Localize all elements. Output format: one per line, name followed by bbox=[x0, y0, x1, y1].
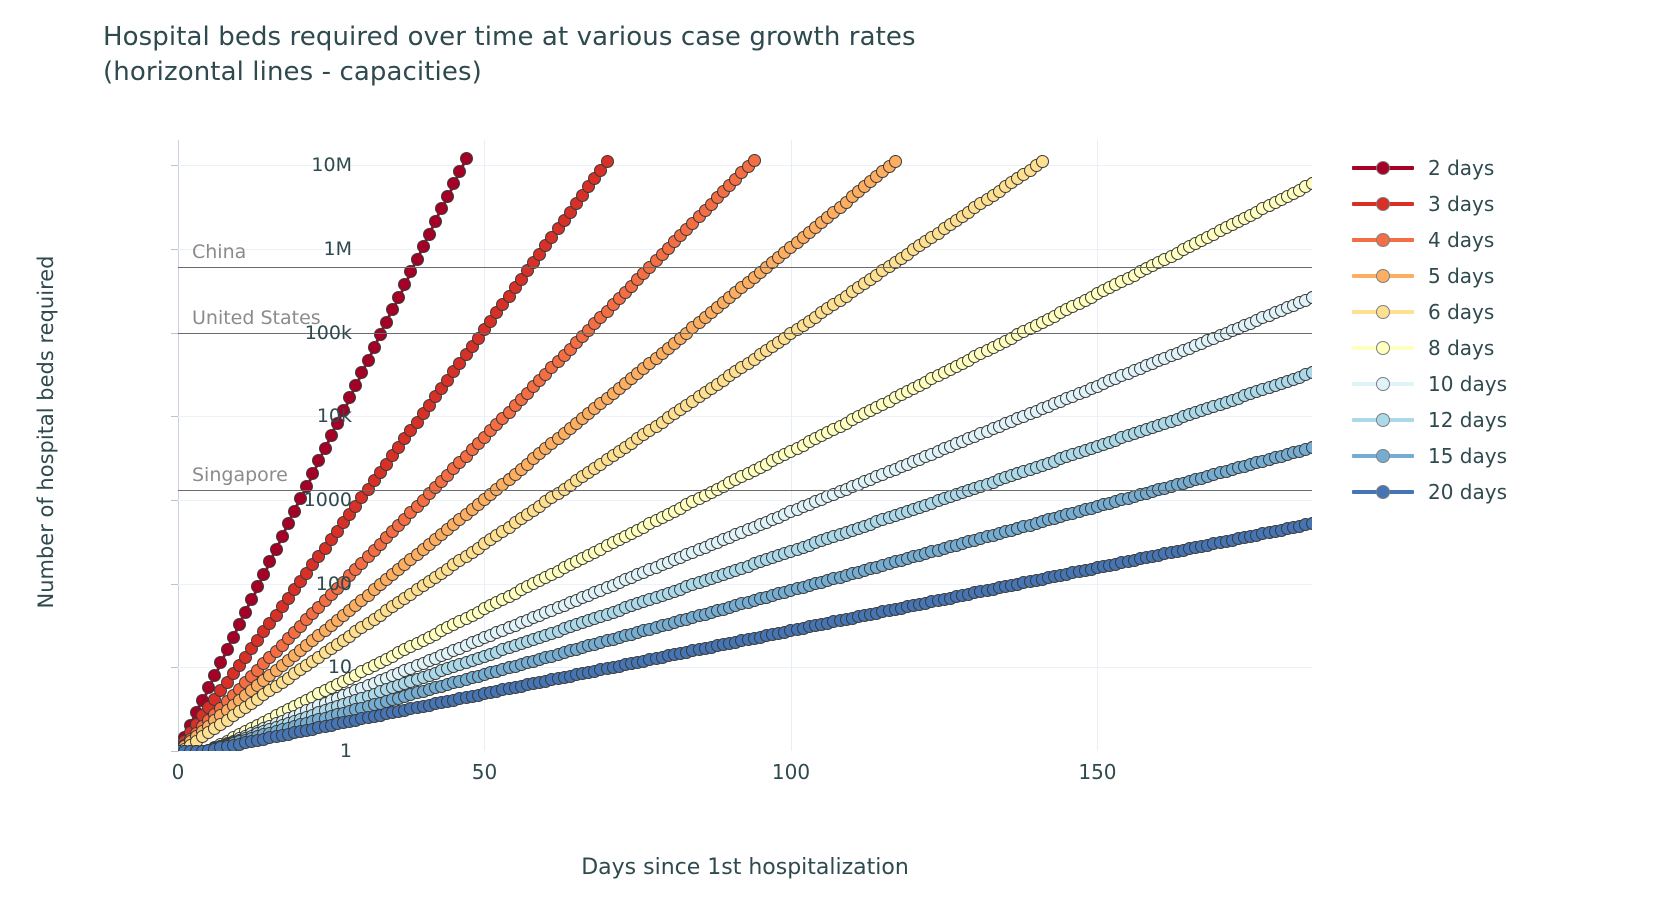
y-axis-tick-label: 1 bbox=[340, 740, 352, 762]
y-axis-tick-mark bbox=[171, 667, 178, 668]
legend: 2 days3 days4 days5 days6 days8 days10 d… bbox=[1352, 150, 1652, 510]
legend-marker-icon bbox=[1376, 161, 1390, 175]
legend-swatch-icon bbox=[1352, 373, 1414, 395]
legend-item-4-days[interactable]: 4 days bbox=[1352, 222, 1652, 258]
y-axis-tick-label: 10M bbox=[311, 154, 352, 176]
legend-item-12-days[interactable]: 12 days bbox=[1352, 402, 1652, 438]
legend-marker-icon bbox=[1376, 197, 1390, 211]
legend-swatch-icon bbox=[1352, 481, 1414, 503]
capacity-label-singapore: Singapore bbox=[192, 464, 288, 486]
x-axis-tick-label: 100 bbox=[772, 760, 810, 784]
legend-marker-icon bbox=[1376, 377, 1390, 391]
legend-marker-icon bbox=[1376, 485, 1390, 499]
y-axis-tick-mark bbox=[171, 165, 178, 166]
legend-item-8-days[interactable]: 8 days bbox=[1352, 330, 1652, 366]
legend-marker-icon bbox=[1376, 269, 1390, 283]
legend-swatch-icon bbox=[1352, 193, 1414, 215]
legend-marker-icon bbox=[1376, 413, 1390, 427]
legend-item-label: 3 days bbox=[1428, 192, 1494, 216]
y-axis-tick-mark bbox=[171, 751, 178, 752]
legend-swatch-icon bbox=[1352, 337, 1414, 359]
legend-swatch-icon bbox=[1352, 229, 1414, 251]
legend-item-6-days[interactable]: 6 days bbox=[1352, 294, 1652, 330]
legend-marker-icon bbox=[1376, 305, 1390, 319]
legend-swatch-icon bbox=[1352, 409, 1414, 431]
y-axis-tick-label: 1M bbox=[324, 238, 352, 260]
y-axis-tick-label: 10 bbox=[328, 656, 352, 678]
y-axis-tick-mark bbox=[171, 500, 178, 501]
chart-title-line-2: (horizontal lines - capacities) bbox=[103, 55, 1203, 90]
legend-item-5-days[interactable]: 5 days bbox=[1352, 258, 1652, 294]
legend-marker-icon bbox=[1376, 233, 1390, 247]
legend-item-label: 12 days bbox=[1428, 408, 1507, 432]
legend-marker-icon bbox=[1376, 341, 1390, 355]
chart-title-line-1: Hospital beds required over time at vari… bbox=[103, 22, 916, 52]
legend-swatch-icon bbox=[1352, 301, 1414, 323]
legend-item-label: 8 days bbox=[1428, 336, 1494, 360]
y-axis-tick-label: 10k bbox=[317, 405, 352, 427]
legend-item-label: 4 days bbox=[1428, 228, 1494, 252]
x-axis-tick-label: 0 bbox=[172, 760, 185, 784]
legend-item-label: 6 days bbox=[1428, 300, 1494, 324]
legend-item-10-days[interactable]: 10 days bbox=[1352, 366, 1652, 402]
y-axis-title: Number of hospital beds required bbox=[34, 172, 58, 692]
capacity-line-china bbox=[178, 267, 1312, 268]
legend-swatch-icon bbox=[1352, 265, 1414, 287]
x-axis-title: Days since 1st hospitalization bbox=[178, 855, 1312, 880]
legend-item-15-days[interactable]: 15 days bbox=[1352, 438, 1652, 474]
legend-item-label: 2 days bbox=[1428, 156, 1494, 180]
y-axis-tick-mark bbox=[171, 249, 178, 250]
y-axis-tick-mark bbox=[171, 333, 178, 334]
x-axis-tick-label: 50 bbox=[472, 760, 497, 784]
y-axis-tick-mark bbox=[171, 584, 178, 585]
legend-item-label: 20 days bbox=[1428, 480, 1507, 504]
legend-item-20-days[interactable]: 20 days bbox=[1352, 474, 1652, 510]
chart-title: Hospital beds required over time at vari… bbox=[103, 20, 1203, 89]
y-axis-tick-label: 1000 bbox=[304, 489, 352, 511]
chart-canvas: Hospital beds required over time at vari… bbox=[0, 0, 1674, 898]
capacity-label-china: China bbox=[192, 241, 246, 263]
x-axis-tick-label: 150 bbox=[1078, 760, 1116, 784]
legend-swatch-icon bbox=[1352, 157, 1414, 179]
capacity-label-united-states: United States bbox=[192, 307, 321, 329]
legend-item-label: 5 days bbox=[1428, 264, 1494, 288]
legend-item-2-days[interactable]: 2 days bbox=[1352, 150, 1652, 186]
legend-swatch-icon bbox=[1352, 445, 1414, 467]
legend-item-label: 15 days bbox=[1428, 444, 1507, 468]
y-axis-tick-mark bbox=[171, 416, 178, 417]
legend-item-label: 10 days bbox=[1428, 372, 1507, 396]
legend-item-3-days[interactable]: 3 days bbox=[1352, 186, 1652, 222]
y-axis-tick-label: 100 bbox=[316, 573, 352, 595]
legend-marker-icon bbox=[1376, 449, 1390, 463]
